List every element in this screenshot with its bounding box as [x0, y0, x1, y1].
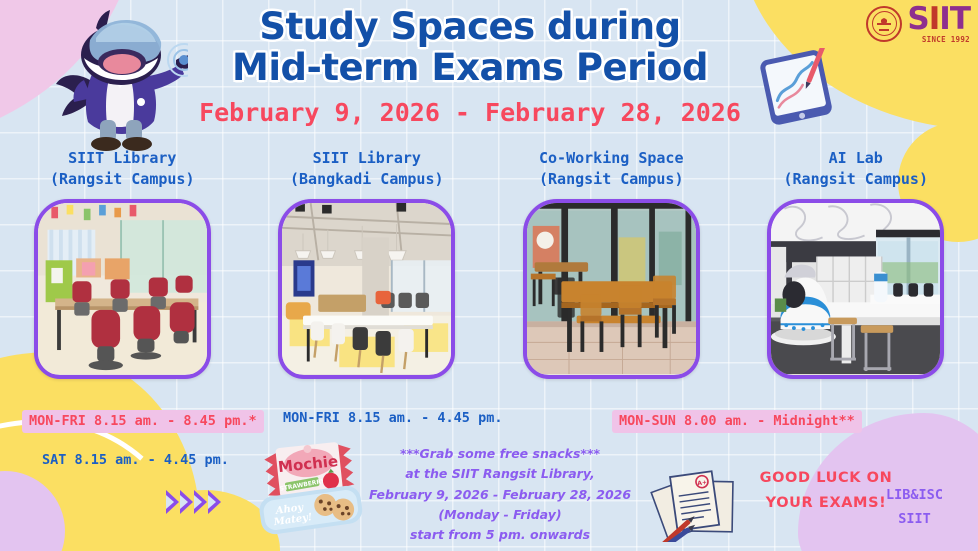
snacks-note: ***Grab some free snacks*** at the SIIT … [365, 444, 635, 545]
ai-lab-rangsit-photo [767, 199, 944, 379]
snacks-note-line1: ***Grab some free snacks*** [365, 444, 635, 464]
logo-since-tagline: SINCE 1992 [922, 36, 970, 44]
snacks-note-line2: at the SIIT Rangsit Library, [365, 464, 635, 484]
location-name: AI Lab [784, 148, 929, 169]
hours-library-rangsit-weekday: MON-FRI 8.15 am. - 8.45 pm.* [22, 410, 264, 433]
library-bangkadi-photo [278, 199, 455, 379]
page-title-line1: Study Spaces during [190, 6, 750, 47]
snacks-note-line4: (Monday - Friday) [365, 505, 635, 525]
purple-blob-bottom-left [0, 471, 65, 551]
title-block: Study Spaces during Mid-term Exams Perio… [190, 6, 750, 127]
department-line1: LIB&ISC [867, 484, 962, 508]
hours-library-bangkadi-weekday: MON-FRI 8.15 am. - 4.45 pm. [283, 410, 502, 426]
date-range: February 9, 2026 - February 28, 2026 [190, 98, 750, 127]
location-card-library-bangkadi: SIIT Library (Bangkadi Campus) [245, 148, 490, 379]
whale-mascot-icon [48, 2, 188, 152]
location-campus: (Rangsit Campus) [539, 169, 684, 190]
location-name: Co-Working Space [539, 148, 684, 169]
hours-library-rangsit-saturday: SAT 8.15 am. - 4.45 pm. [42, 452, 229, 468]
poster-canvas: Study Spaces during Mid-term Exams Perio… [0, 0, 978, 551]
location-campus: (Rangsit Campus) [784, 169, 929, 190]
tablet-stylus-icon [753, 48, 843, 126]
snacks-note-line3: February 9, 2026 - February 28, 2026 [365, 485, 635, 505]
chevron-right-icon [166, 490, 179, 514]
chevron-arrows-icon [166, 490, 221, 514]
location-name: SIIT Library [50, 148, 195, 169]
cookie-snack-icon: Ahoy Matey! [256, 481, 366, 541]
snacks-note-line5: start from 5 pm. onwards [365, 525, 635, 545]
logo-letter-t: T [950, 1, 970, 37]
logo-letter-i1: I [929, 1, 940, 37]
svg-text:A+: A+ [697, 479, 708, 487]
location-card-library-rangsit: SIIT Library (Rangsit Campus) [0, 148, 245, 379]
chevron-right-icon [208, 490, 221, 514]
coworking-rangsit-photo [523, 199, 700, 379]
siit-logo-letters: SIIT [907, 4, 970, 35]
siit-seal-icon [866, 6, 902, 42]
library-rangsit-photo [34, 199, 211, 379]
siit-logo-text: SIIT SINCE 1992 [907, 4, 970, 44]
location-campus: (Rangsit Campus) [50, 169, 195, 190]
location-name: SIIT Library [290, 148, 444, 169]
location-cards: SIIT Library (Rangsit Campus) [0, 148, 978, 379]
logo-letter-s: S [907, 1, 928, 37]
location-card-coworking: Co-Working Space (Rangsit Campus) [489, 148, 734, 379]
chevron-right-icon [180, 490, 193, 514]
location-campus: (Bangkadi Campus) [290, 169, 444, 190]
department-signature: LIB&ISC SIIT [867, 484, 962, 531]
page-title-line2: Mid-term Exams Period [190, 47, 750, 88]
hours-ai-lab-all-week: MON-SUN 8.00 am. - Midnight** [612, 410, 862, 433]
location-card-ai-lab: AI Lab (Rangsit Campus) [734, 148, 978, 379]
logo-letter-i2: I [939, 1, 950, 37]
exam-papers-icon: A+ [648, 466, 740, 542]
chevron-right-icon [194, 490, 207, 514]
department-line2: SIIT [867, 508, 962, 532]
siit-logo: SIIT SINCE 1992 [866, 4, 970, 44]
